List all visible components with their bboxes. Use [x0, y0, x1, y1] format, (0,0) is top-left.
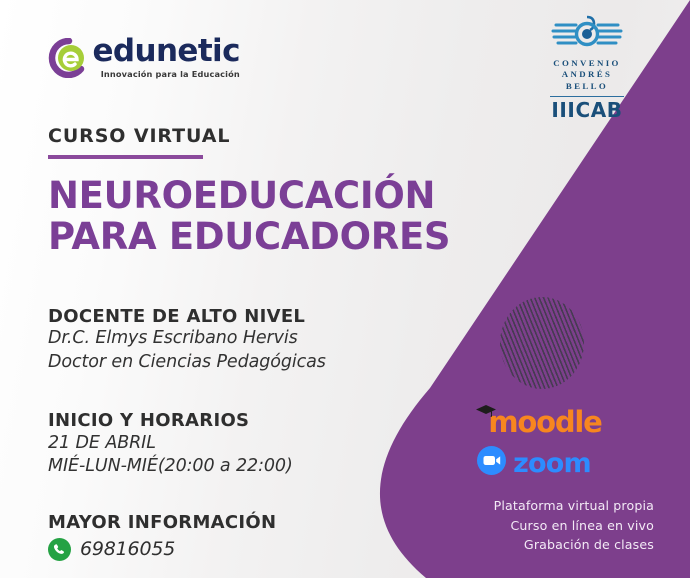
- contacto-block: MAYOR INFORMACIÓN 69816055: [48, 512, 468, 561]
- panel-content: moodle zoom Plataforma virtual propia Cu…: [414, 408, 654, 555]
- horarios-schedule: MIÉ-LUN-MIÉ(20:00 a 22:00): [48, 455, 468, 478]
- cab-divider: [550, 96, 624, 97]
- course-poster: edunetic Innovación para la Educación CO…: [0, 0, 690, 578]
- cab-emblem-icon: [550, 14, 624, 54]
- eyebrow-underline: [48, 155, 203, 159]
- cab-acronym: IIICAB: [527, 100, 647, 120]
- poster-content: CURSO VIRTUAL NEUROEDUCACIÓN PARA EDUCAD…: [48, 0, 468, 561]
- moodle-logo: moodle: [414, 408, 654, 437]
- docente-credential: Doctor en Ciencias Pedagógicas: [48, 351, 468, 374]
- page-title-line-2: PARA EDUCADORES: [48, 216, 468, 257]
- edunetic-tagline: Innovación para la Educación: [92, 69, 239, 79]
- panel-feature-item: Curso en línea en vivo: [414, 516, 654, 536]
- whatsapp-icon[interactable]: [48, 538, 71, 561]
- edunetic-logo: edunetic Innovación para la Educación: [48, 36, 240, 79]
- halftone-stripe-circle: [500, 297, 584, 389]
- contacto-phone-number: 69816055: [80, 538, 175, 560]
- cab-line-1: CONVENIO: [527, 58, 647, 69]
- docente-name: Dr.C. Elmys Escribano Hervis: [48, 327, 468, 350]
- convenio-andres-bello-logo: CONVENIO ANDRÉS BELLO IIICAB: [527, 14, 647, 120]
- edunetic-logo-mark: [48, 38, 92, 78]
- panel-feature-item: Plataforma virtual propia: [414, 496, 654, 516]
- cab-line-2: ANDRÉS: [527, 69, 647, 80]
- horarios-heading: INICIO Y HORARIOS: [48, 410, 468, 432]
- eyebrow-label: CURSO VIRTUAL: [48, 127, 468, 146]
- docente-heading: DOCENTE DE ALTO NIVEL: [48, 306, 468, 328]
- video-camera-icon: [477, 446, 506, 480]
- panel-feature-list: Plataforma virtual propia Curso en línea…: [414, 496, 654, 555]
- horarios-start-date: 21 DE ABRIL: [48, 432, 468, 455]
- moodle-label: moodle: [488, 408, 601, 437]
- zoom-logo: zoom: [414, 446, 654, 480]
- horarios-block: INICIO Y HORARIOS 21 DE ABRIL MIÉ-LUN-MI…: [48, 410, 468, 478]
- contacto-phone-row[interactable]: 69816055: [48, 538, 468, 561]
- page-title: NEUROEDUCACIÓN PARA EDUCADORES: [48, 175, 468, 258]
- graduation-cap-icon: [475, 404, 497, 423]
- page-title-line-1: NEUROEDUCACIÓN: [48, 175, 468, 216]
- panel-feature-item: Grabación de clases: [414, 535, 654, 555]
- contacto-heading: MAYOR INFORMACIÓN: [48, 512, 468, 534]
- docente-block: DOCENTE DE ALTO NIVEL Dr.C. Elmys Escrib…: [48, 306, 468, 374]
- zoom-label: zoom: [513, 450, 591, 477]
- edunetic-wordmark-text: edunetic: [92, 36, 239, 67]
- cab-line-3: BELLO: [527, 81, 647, 92]
- edunetic-wordmark: edunetic Innovación para la Educación: [92, 36, 239, 79]
